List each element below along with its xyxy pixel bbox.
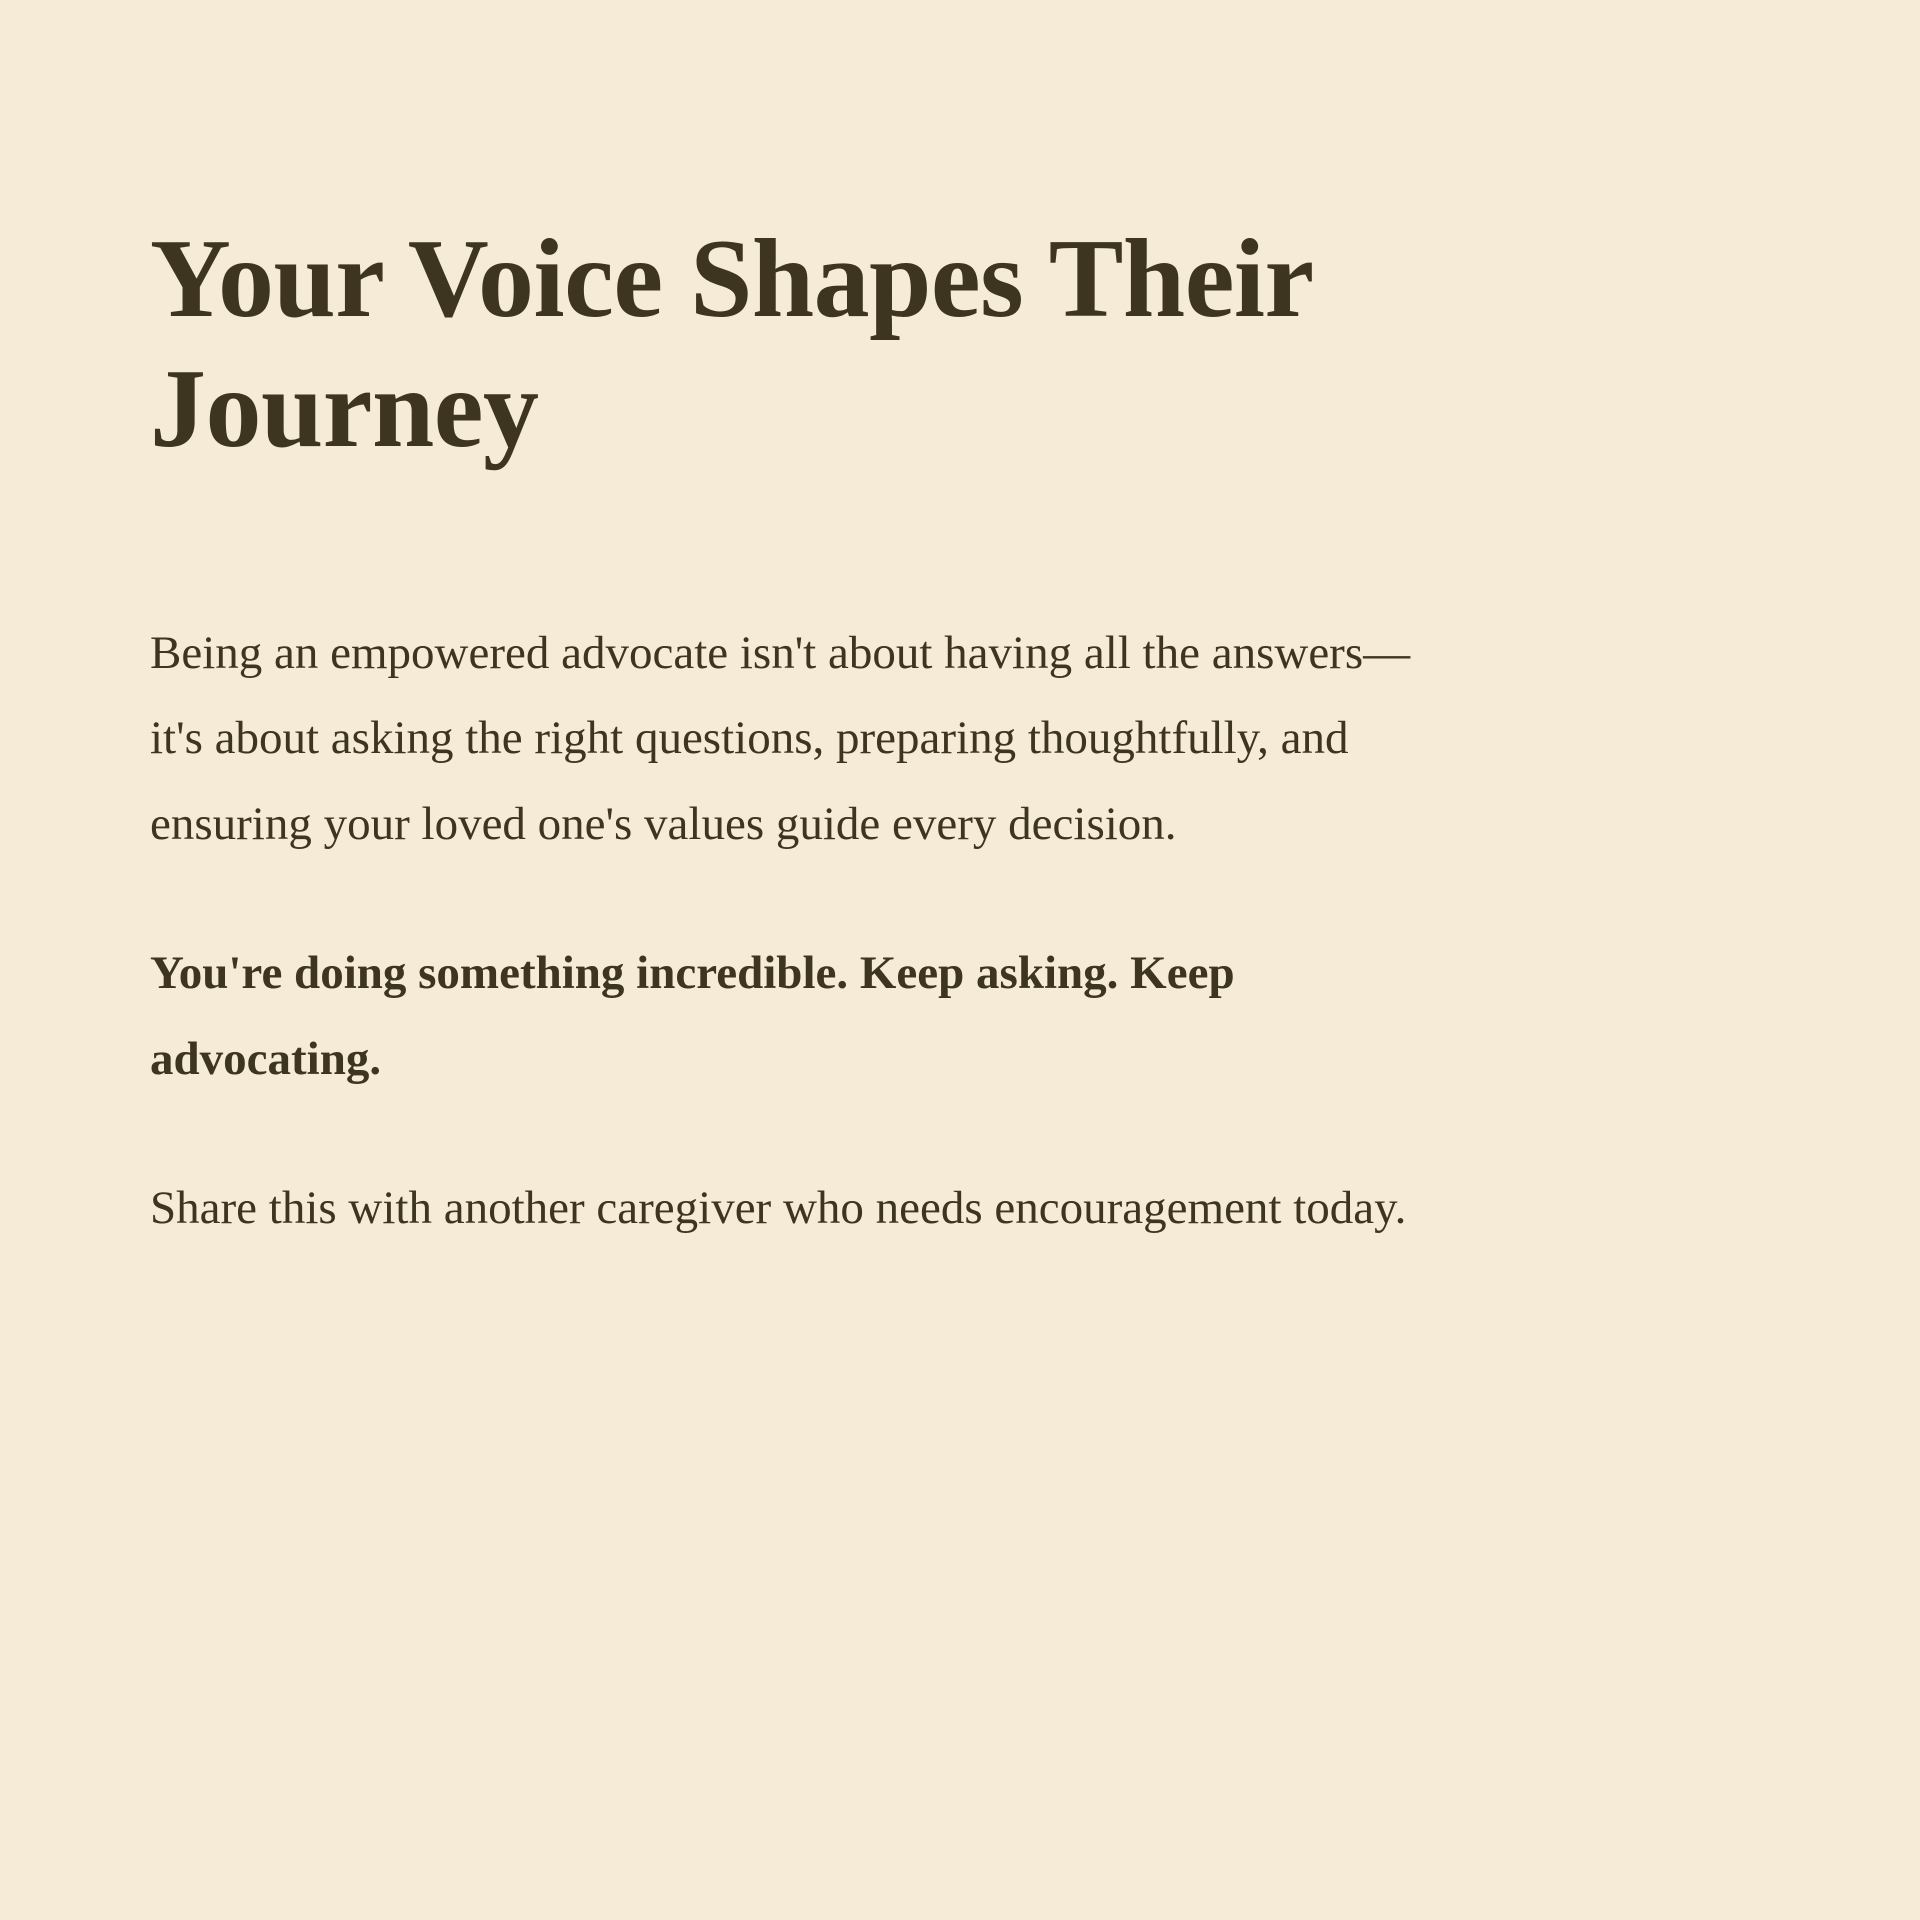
paragraph-call-to-action: Share this with another caregiver who ne… xyxy=(150,1166,1430,1252)
card-body: Being an empowered advocate isn't about … xyxy=(150,611,1440,1252)
paragraph-intro: Being an empowered advocate isn't about … xyxy=(150,611,1430,868)
card-content: Your Voice Shapes Their Journey Being an… xyxy=(150,215,1440,1252)
quote-card: Your Voice Shapes Their Journey Being an… xyxy=(0,0,1920,1920)
paragraph-encouragement: You're doing something incredible. Keep … xyxy=(150,931,1400,1102)
page-title: Your Voice Shapes Their Journey xyxy=(150,215,1390,475)
